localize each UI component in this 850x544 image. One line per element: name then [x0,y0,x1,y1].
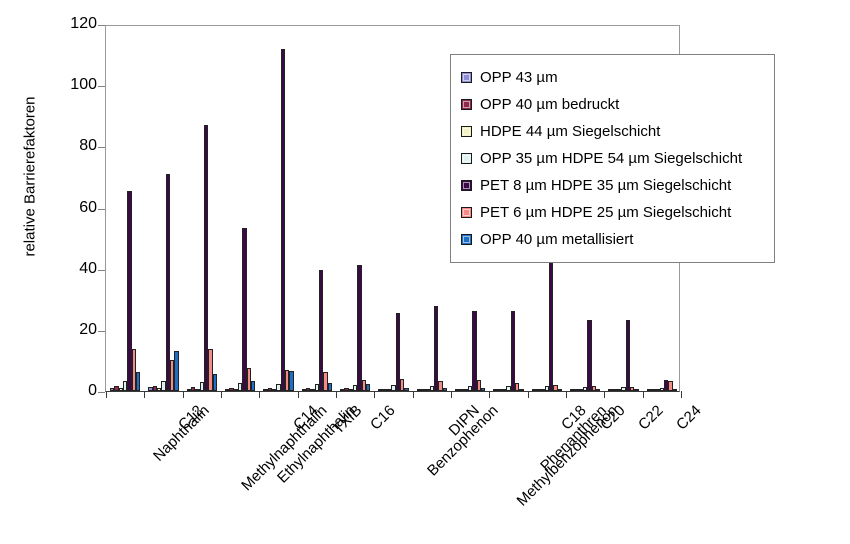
bar-group [183,26,221,391]
bar-group [336,26,374,391]
legend-item-label: HDPE 44 µm Siegelschicht [480,124,660,139]
legend-item-label: PET 6 µm HDPE 25 µm Siegelschicht [480,205,731,220]
x-axis-tick-mark [451,391,452,398]
x-axis-tick-mark [374,391,375,398]
bar [596,389,600,391]
x-axis-label: C22 [635,402,666,433]
legend-item-label: PET 8 µm HDPE 35 µm Siegelschicht [480,178,731,193]
bar [242,228,246,391]
bar [434,306,438,391]
bar [587,320,591,391]
legend-swatch-icon [461,126,472,137]
x-axis-tick-mark [489,391,490,398]
legend-item[interactable]: PET 6 µm HDPE 25 µm Siegelschicht [461,199,774,226]
bar [549,257,553,391]
x-axis-tick-mark [298,391,299,398]
bar [404,388,408,391]
bar [519,389,523,391]
chart-legend: OPP 43 µmOPP 40 µm bedrucktHDPE 44 µm Si… [450,54,775,263]
x-axis-tick-mark [413,391,414,398]
bar [251,381,255,391]
x-axis-tick-mark [106,391,107,398]
bar [673,389,677,391]
bar [481,388,485,391]
bar-group [413,26,451,391]
legend-item[interactable]: HDPE 44 µm Siegelschicht [461,118,774,145]
y-axis-tick-label: 40 [53,261,97,277]
legend-swatch-icon [461,180,472,191]
bar [289,371,293,391]
bar-group [259,26,297,391]
y-axis-tick-label: 0 [53,383,97,399]
bar-group [374,26,412,391]
legend-item-label: OPP 43 µm [480,70,558,85]
x-axis-tick-mark [183,391,184,398]
y-axis-tick-label: 60 [53,200,97,216]
legend-swatch-icon [461,153,472,164]
y-axis-tick-label: 100 [53,77,97,93]
legend-swatch-icon [461,207,472,218]
bar [213,374,217,391]
x-axis-label: TXIB [330,402,366,438]
y-axis-tick-mark [98,331,105,332]
x-axis-tick-mark [336,391,337,398]
bar-group [144,26,182,391]
x-axis-tick-mark [221,391,222,398]
bar [511,311,515,391]
bar [634,389,638,391]
legend-swatch-icon [461,72,472,83]
bar [357,265,361,391]
x-axis-tick-mark [643,391,644,398]
bar [472,311,476,391]
legend-swatch-icon [461,99,472,110]
bar [366,384,370,391]
plot-area: OPP 43 µmOPP 40 µm bedrucktHDPE 44 µm Si… [105,25,680,392]
bar [174,351,178,391]
y-axis-tick-mark [98,86,105,87]
legend-item[interactable]: OPP 40 µm bedruckt [461,91,774,118]
x-axis-label: C16 [367,402,398,433]
legend-item[interactable]: OPP 43 µm [461,64,774,91]
legend-item[interactable]: PET 8 µm HDPE 35 µm Siegelschicht [461,172,774,199]
x-axis-tick-mark [528,391,529,398]
y-axis-tick-mark [98,25,105,26]
chart-canvas: relative Barrierefaktoren 02040608010012… [0,0,850,544]
y-axis-tick-label: 120 [53,16,97,32]
bar [443,388,447,391]
legend-item-label: OPP 40 µm metallisiert [480,232,633,247]
y-axis-tick-label: 80 [53,138,97,154]
y-axis-tick-label: 20 [53,322,97,338]
bar [626,320,630,391]
y-axis-tick-mark [98,392,105,393]
y-axis-tick-mark [98,209,105,210]
legend-item[interactable]: OPP 35 µm HDPE 54 µm Siegelschicht [461,145,774,172]
y-axis-tick-mark [98,147,105,148]
bar [136,372,140,391]
bar-group [221,26,259,391]
x-axis-tick-mark [604,391,605,398]
legend-item-label: OPP 35 µm HDPE 54 µm Siegelschicht [480,151,742,166]
x-axis-tick-mark [566,391,567,398]
bar [166,174,170,391]
legend-swatch-icon [461,234,472,245]
legend-item-label: OPP 40 µm bedruckt [480,97,619,112]
bar-group [106,26,144,391]
x-axis-tick-mark [681,391,682,398]
x-axis-tick-mark [259,391,260,398]
bar [558,389,562,391]
legend-item[interactable]: OPP 40 µm metallisiert [461,226,774,253]
y-axis-tick-mark [98,270,105,271]
x-axis-tick-mark [144,391,145,398]
x-axis-label: C24 [673,402,704,433]
bar [328,383,332,391]
bar [281,49,285,391]
bar-group [298,26,336,391]
y-axis-title: relative Barrierefaktoren [22,27,39,327]
